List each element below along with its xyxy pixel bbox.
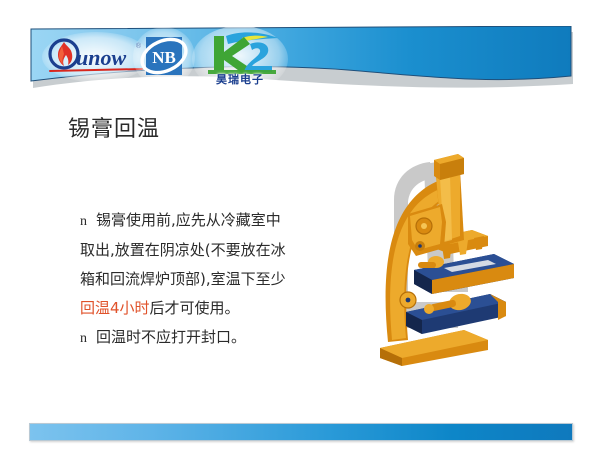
bullet-list: n锡膏使用前,应先从冷藏室中 取出,放置在阴凉处(不要放在冰 箱和回流焊炉顶部)…: [80, 206, 370, 353]
bullet-marker-icon: n: [80, 214, 87, 229]
header-banner: unow ® NB: [30, 26, 573, 100]
bullet-line-text: 锡膏使用前,应先从冷藏室中: [96, 211, 281, 229]
bullet-line-text: 箱和回流焊炉顶部),室温下至少: [80, 270, 286, 288]
bullet-line-text: 后才可使用。: [150, 299, 240, 317]
list-item-continuation: 取出,放置在阴凉处(不要放在冰: [80, 236, 370, 265]
list-item-continuation: 箱和回流焊炉顶部),室温下至少: [80, 265, 370, 294]
microscope-icon: [372, 152, 562, 374]
bullet-line-text: 取出,放置在阴凉处(不要放在冰: [80, 241, 286, 259]
list-item: n回温时不应打开封口。: [80, 323, 370, 353]
microscope-stage-knob: [418, 256, 444, 268]
slide-canvas: unow ® NB: [0, 0, 600, 463]
microscope-focus-knob: [400, 292, 416, 308]
footer-accent-bar: [29, 423, 573, 441]
page-title: 锡膏回温: [68, 118, 160, 142]
bullet-line-text: 回温时不应打开封口。: [96, 328, 246, 346]
bullet-marker-icon: n: [80, 331, 87, 346]
list-item-continuation: 回温4小时后才可使用。: [80, 294, 370, 323]
bullet-line-highlight: 回温4小时: [80, 299, 150, 317]
list-item: n锡膏使用前,应先从冷藏室中: [80, 206, 370, 236]
